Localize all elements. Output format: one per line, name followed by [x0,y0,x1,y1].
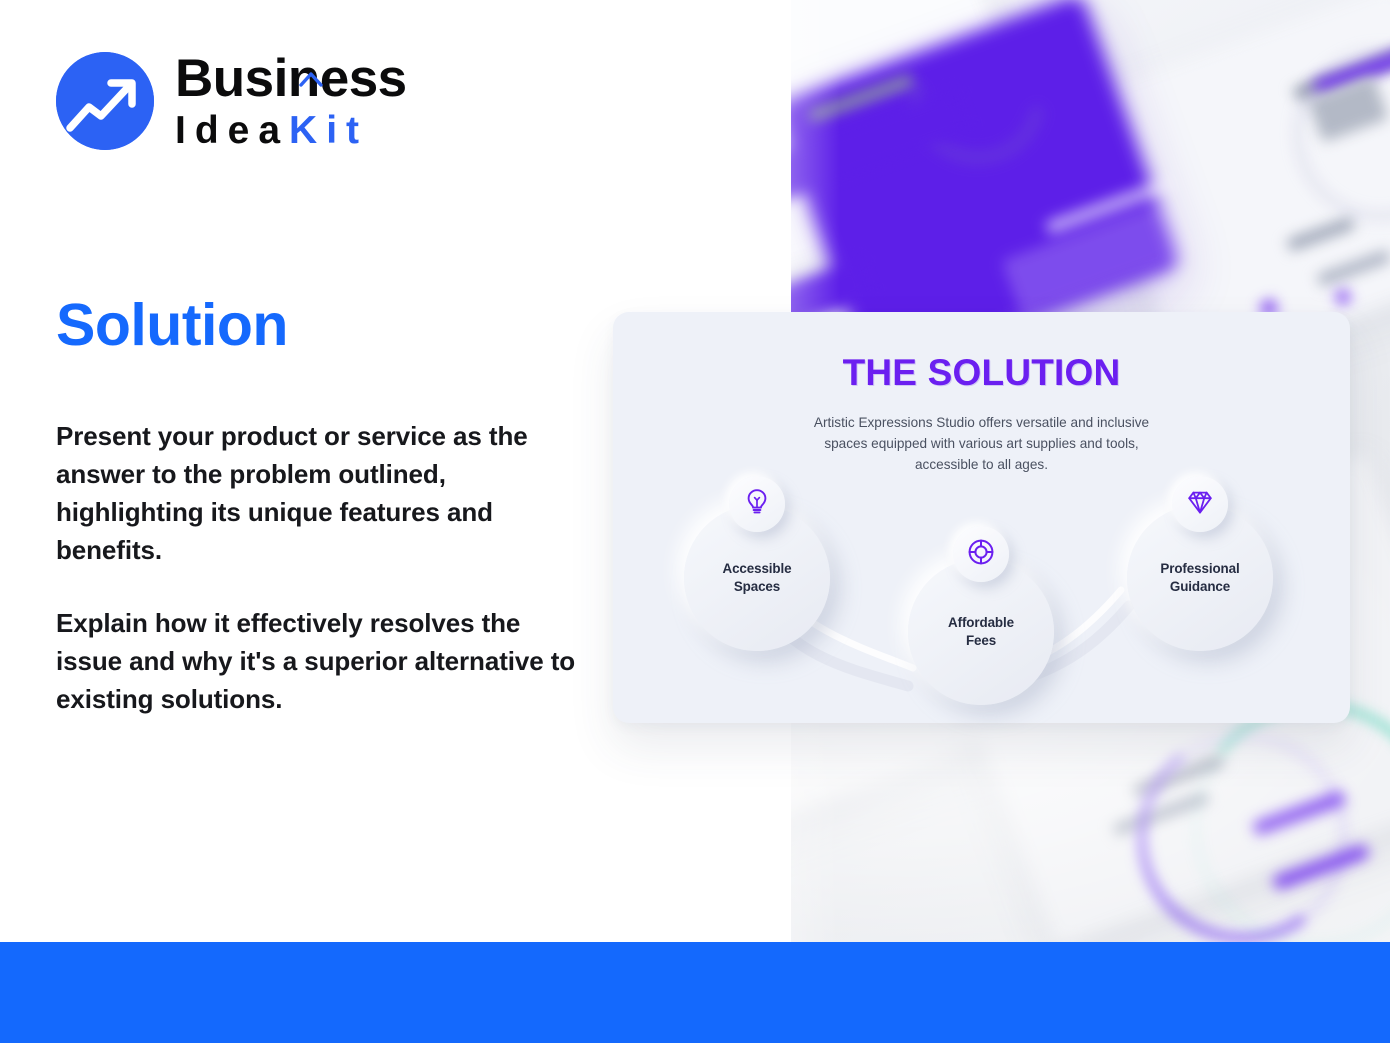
brand-logo: Business IdeaKit [56,52,407,150]
page-title: Solution [56,296,288,355]
footer-bar [0,942,1390,1043]
brand-kit-text: Kit [289,109,368,152]
brand-idea-text: Idea [175,109,289,152]
slide-canvas: Business IdeaKit Solution Present your p… [0,0,1390,1043]
badge-accessible-spaces [729,476,785,532]
badge-affordable-fees [953,526,1009,582]
body-copy: Present your product or service as the a… [56,418,584,719]
node-label: Accessible Spaces [723,560,792,596]
diamond-icon [1185,487,1215,522]
growth-arrow-icon [56,52,154,150]
solution-card-title: THE SOLUTION [613,352,1350,394]
brand-name-text: Business [175,49,407,108]
lightbulb-icon [742,487,772,522]
node-label: Affordable Fees [948,614,1014,650]
lifebuoy-icon [966,537,996,572]
brand-name-line1: Business [175,52,407,105]
node-label: Professional Guidance [1160,560,1239,596]
body-paragraph-2: Explain how it effectively resolves the … [56,605,584,719]
body-paragraph-1: Present your product or service as the a… [56,418,584,570]
left-content-column: Business IdeaKit Solution Present your p… [0,0,600,942]
brand-wordmark: Business IdeaKit [175,52,407,150]
badge-professional-guidance [1172,476,1228,532]
brand-name-line2: IdeaKit [175,111,407,150]
